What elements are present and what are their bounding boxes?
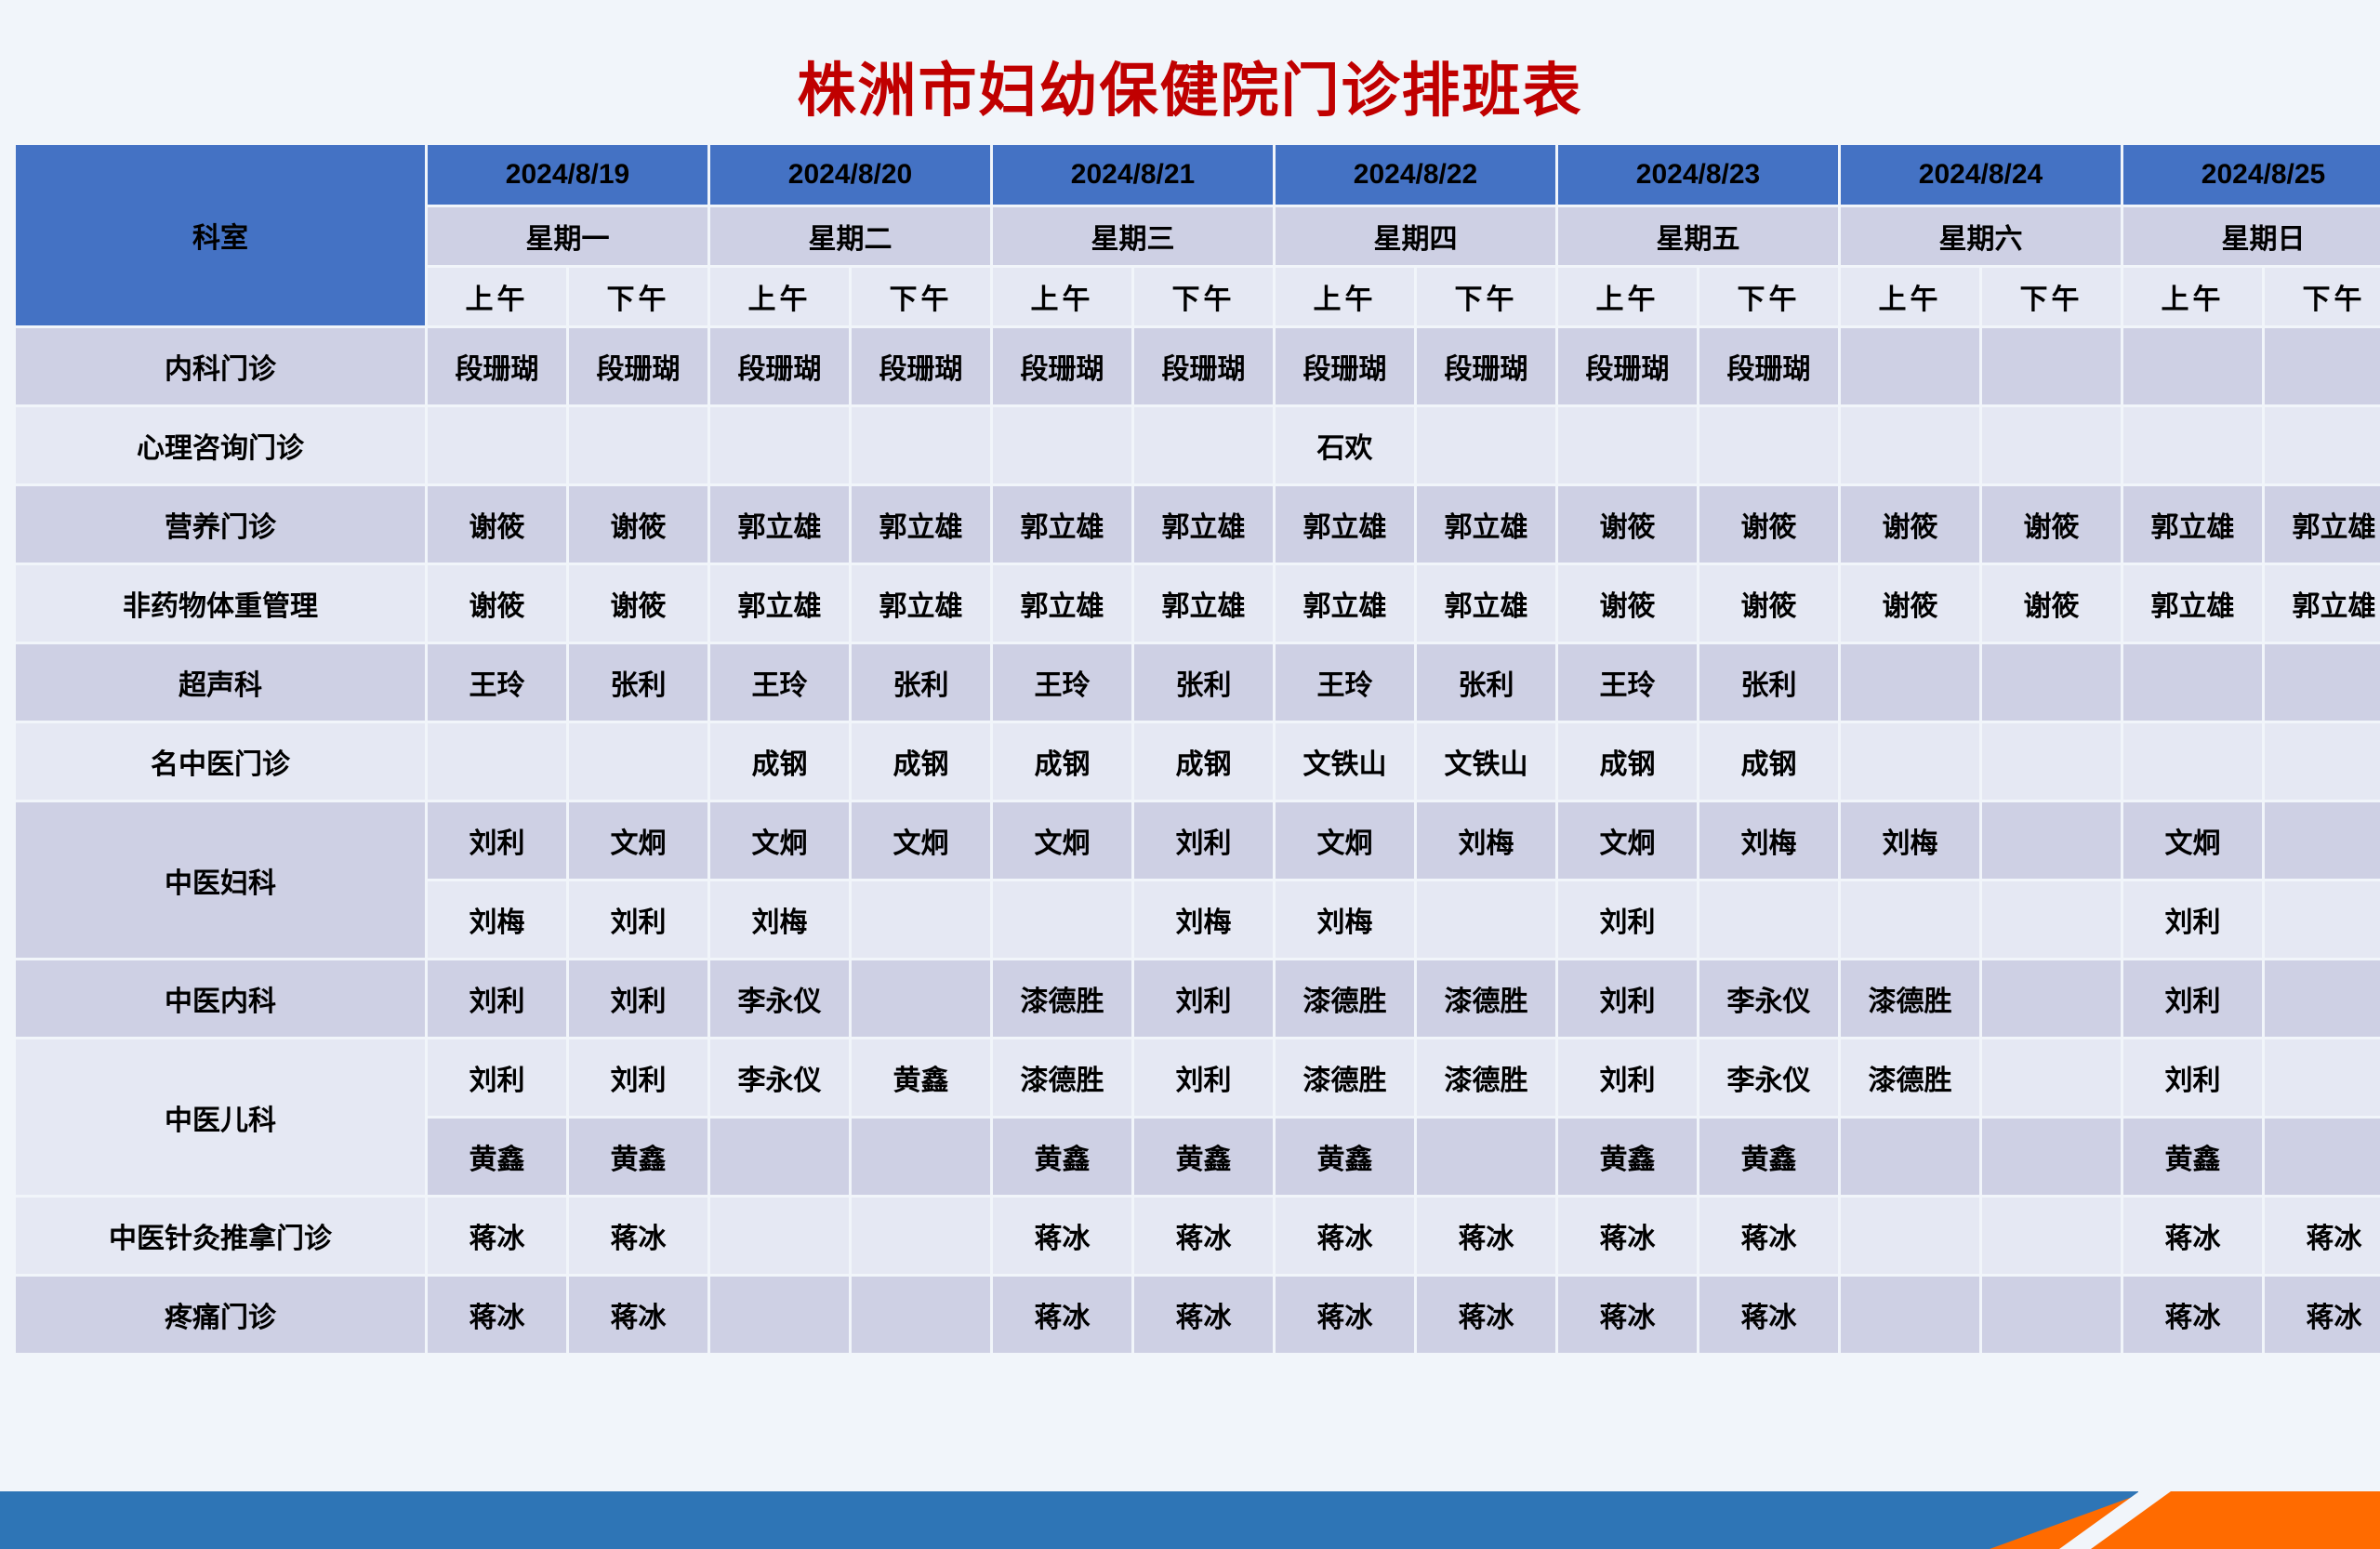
schedule-cell-empty [2265, 407, 2380, 483]
schedule-cell-doctor: 段珊瑚 [569, 328, 707, 404]
schedule-cell-empty [2265, 802, 2380, 879]
schedule-cell-empty [1982, 328, 2121, 404]
schedule-cell-doctor: 刘利 [1134, 802, 1273, 879]
schedule-cell-doctor: 刘利 [1558, 881, 1697, 958]
schedule-cell-doctor: 郭立雄 [2123, 486, 2262, 563]
schedule-cell-empty [2123, 723, 2262, 800]
header-session-am-0: 上午 [428, 268, 566, 325]
schedule-cell-doctor: 刘利 [2123, 1039, 2262, 1116]
header-date-1: 2024/8/20 [710, 145, 990, 205]
schedule-cell-doctor: 刘梅 [1841, 802, 1979, 879]
schedule-cell-doctor: 成钢 [1699, 723, 1838, 800]
schedule-cell-empty [1841, 723, 1979, 800]
schedule-cell-empty [2265, 960, 2380, 1037]
schedule-cell-doctor: 段珊瑚 [993, 328, 1131, 404]
schedule-cell-doctor: 文炯 [569, 802, 707, 879]
schedule-cell-doctor: 李永仪 [710, 1039, 849, 1116]
schedule-cell-empty [1982, 1277, 2121, 1353]
schedule-cell-doctor: 蒋冰 [1276, 1198, 1414, 1274]
header-session-am-5: 上午 [1841, 268, 1979, 325]
schedule-cell-doctor: 段珊瑚 [428, 328, 566, 404]
table-row: 中医妇科刘利文炯文炯文炯文炯刘利文炯刘梅文炯刘梅刘梅文炯 [16, 802, 2380, 879]
schedule-cell-empty [1134, 407, 1273, 483]
schedule-cell-doctor: 谢筱 [428, 486, 566, 563]
schedule-cell-doctor: 蒋冰 [1699, 1277, 1838, 1353]
schedule-cell-doctor: 李永仪 [1699, 1039, 1838, 1116]
schedule-cell-doctor: 段珊瑚 [1417, 328, 1555, 404]
header-date-3: 2024/8/22 [1276, 145, 1555, 205]
schedule-cell-empty [1982, 407, 2121, 483]
table-row: 中医儿科刘利刘利李永仪黄鑫漆德胜刘利漆德胜漆德胜刘利李永仪漆德胜刘利 [16, 1039, 2380, 1116]
table-row: 非药物体重管理谢筱谢筱郭立雄郭立雄郭立雄郭立雄郭立雄郭立雄谢筱谢筱谢筱谢筱郭立雄… [16, 565, 2380, 642]
dept-name-cell: 名中医门诊 [16, 723, 425, 800]
schedule-cell-doctor: 张利 [852, 644, 990, 721]
schedule-cell-doctor: 郭立雄 [2123, 565, 2262, 642]
schedule-cell-doctor: 蒋冰 [1558, 1277, 1697, 1353]
schedule-cell-empty [1699, 881, 1838, 958]
dept-name-cell: 中医内科 [16, 960, 425, 1037]
dept-name-cell: 内科门诊 [16, 328, 425, 404]
schedule-cell-doctor: 成钢 [852, 723, 990, 800]
header-session-am-4: 上午 [1558, 268, 1697, 325]
schedule-cell-doctor: 蒋冰 [569, 1277, 707, 1353]
header-weekday-6: 星期日 [2123, 207, 2380, 265]
schedule-cell-empty [993, 407, 1131, 483]
schedule-cell-empty [852, 1198, 990, 1274]
schedule-cell-doctor: 黄鑫 [428, 1119, 566, 1195]
schedule-cell-empty [1841, 1119, 1979, 1195]
schedule-cell-doctor: 蒋冰 [993, 1277, 1131, 1353]
schedule-cell-doctor: 黄鑫 [2123, 1119, 2262, 1195]
schedule-cell-doctor: 郭立雄 [1417, 565, 1555, 642]
schedule-cell-doctor: 段珊瑚 [852, 328, 990, 404]
schedule-cell-empty [1982, 1119, 2121, 1195]
schedule-cell-doctor: 蒋冰 [2123, 1277, 2262, 1353]
schedule-cell-doctor: 谢筱 [1699, 565, 1838, 642]
header-session-pm-2: 下午 [1134, 268, 1273, 325]
schedule-cell-doctor: 谢筱 [569, 486, 707, 563]
schedule-cell-doctor: 谢筱 [1841, 486, 1979, 563]
schedule-cell-doctor: 蒋冰 [428, 1198, 566, 1274]
schedule-cell-empty [710, 1119, 849, 1195]
schedule-cell-doctor: 黄鑫 [852, 1039, 990, 1116]
schedule-cell-doctor: 黄鑫 [569, 1119, 707, 1195]
schedule-cell-doctor: 蒋冰 [1134, 1198, 1273, 1274]
schedule-cell-doctor: 文炯 [993, 802, 1131, 879]
table-row: 内科门诊段珊瑚段珊瑚段珊瑚段珊瑚段珊瑚段珊瑚段珊瑚段珊瑚段珊瑚段珊瑚 [16, 328, 2380, 404]
schedule-cell-doctor: 段珊瑚 [1558, 328, 1697, 404]
schedule-cell-empty [2265, 1039, 2380, 1116]
schedule-cell-doctor: 谢筱 [1982, 565, 2121, 642]
header-weekday-1: 星期二 [710, 207, 990, 265]
schedule-cell-empty [428, 407, 566, 483]
schedule-cell-empty [1841, 1277, 1979, 1353]
schedule-cell-empty [2123, 644, 2262, 721]
header-date-4: 2024/8/23 [1558, 145, 1838, 205]
schedule-cell-doctor: 蒋冰 [1699, 1198, 1838, 1274]
schedule-cell-doctor: 刘利 [2123, 960, 2262, 1037]
schedule-cell-doctor: 郭立雄 [1276, 565, 1414, 642]
header-weekday-4: 星期五 [1558, 207, 1838, 265]
table-row: 心理咨询门诊石欢 [16, 407, 2380, 483]
schedule-cell-doctor: 蒋冰 [428, 1277, 566, 1353]
schedule-cell-doctor: 文炯 [710, 802, 849, 879]
schedule-cell-doctor: 刘利 [428, 1039, 566, 1116]
schedule-cell-doctor: 刘梅 [1134, 881, 1273, 958]
schedule-cell-doctor: 刘梅 [1276, 881, 1414, 958]
schedule-cell-empty [1841, 1198, 1979, 1274]
schedule-cell-empty [2265, 644, 2380, 721]
schedule-cell-doctor: 蒋冰 [1276, 1277, 1414, 1353]
schedule-cell-doctor: 张利 [1699, 644, 1838, 721]
schedule-cell-doctor: 蒋冰 [1417, 1198, 1555, 1274]
schedule-cell-doctor: 王玲 [710, 644, 849, 721]
schedule-cell-empty [1982, 1198, 2121, 1274]
schedule-cell-doctor: 成钢 [1558, 723, 1697, 800]
schedule-cell-doctor: 王玲 [1558, 644, 1697, 721]
table-row: 营养门诊谢筱谢筱郭立雄郭立雄郭立雄郭立雄郭立雄郭立雄谢筱谢筱谢筱谢筱郭立雄郭立雄 [16, 486, 2380, 563]
schedule-cell-empty [852, 1119, 990, 1195]
schedule-cell-doctor: 漆德胜 [1276, 1039, 1414, 1116]
schedule-cell-doctor: 漆德胜 [993, 960, 1131, 1037]
schedule-cell-doctor: 文炯 [1558, 802, 1697, 879]
schedule-cell-doctor: 刘梅 [428, 881, 566, 958]
schedule-cell-doctor: 郭立雄 [710, 565, 849, 642]
header-date-5: 2024/8/24 [1841, 145, 2121, 205]
schedule-cell-doctor: 黄鑫 [1558, 1119, 1697, 1195]
schedule-cell-doctor: 黄鑫 [1276, 1119, 1414, 1195]
schedule-cell-doctor: 刘利 [569, 1039, 707, 1116]
schedule-cell-doctor: 蒋冰 [2123, 1198, 2262, 1274]
dept-name-cell: 疼痛门诊 [16, 1277, 425, 1353]
schedule-cell-doctor: 谢筱 [569, 565, 707, 642]
schedule-cell-doctor: 谢筱 [428, 565, 566, 642]
schedule-cell-empty [2265, 723, 2380, 800]
schedule-cell-doctor: 郭立雄 [852, 486, 990, 563]
header-date-0: 2024/8/19 [428, 145, 707, 205]
schedule-cell-doctor: 刘利 [1134, 960, 1273, 1037]
dept-name-cell: 中医针灸推拿门诊 [16, 1198, 425, 1274]
header-dept-label: 科室 [16, 145, 425, 325]
schedule-cell-doctor: 郭立雄 [993, 565, 1131, 642]
schedule-cell-doctor: 漆德胜 [1276, 960, 1414, 1037]
header-session-pm-4: 下午 [1699, 268, 1838, 325]
schedule-cell-doctor: 蒋冰 [1558, 1198, 1697, 1274]
schedule-cell-empty [710, 1277, 849, 1353]
schedule-cell-empty [1841, 328, 1979, 404]
header-session-am-1: 上午 [710, 268, 849, 325]
schedule-cell-empty [1558, 407, 1697, 483]
header-session-pm-3: 下午 [1417, 268, 1555, 325]
schedule-cell-doctor: 郭立雄 [1417, 486, 1555, 563]
schedule-cell-doctor: 成钢 [1134, 723, 1273, 800]
schedule-cell-empty [1982, 644, 2121, 721]
header-session-pm-0: 下午 [569, 268, 707, 325]
schedule-cell-doctor: 文炯 [852, 802, 990, 879]
table-header: 科室 2024/8/19 2024/8/20 2024/8/21 2024/8/… [16, 145, 2380, 325]
schedule-cell-empty [1841, 407, 1979, 483]
schedule-cell-doctor: 蒋冰 [2265, 1198, 2380, 1274]
schedule-cell-doctor: 段珊瑚 [1134, 328, 1273, 404]
dept-name-cell: 中医儿科 [16, 1039, 425, 1195]
schedule-cell-empty [852, 960, 990, 1037]
schedule-cell-empty [569, 407, 707, 483]
schedule-cell-empty [2123, 407, 2262, 483]
schedule-cell-empty [569, 723, 707, 800]
schedule-cell-doctor: 郭立雄 [1134, 486, 1273, 563]
header-session-pm-6: 下午 [2265, 268, 2380, 325]
dept-name-cell: 非药物体重管理 [16, 565, 425, 642]
dept-name-cell: 营养门诊 [16, 486, 425, 563]
schedule-cell-empty [428, 723, 566, 800]
header-session-am-2: 上午 [993, 268, 1131, 325]
schedule-cell-empty [852, 407, 990, 483]
schedule-cell-doctor: 文铁山 [1276, 723, 1414, 800]
schedule-cell-doctor: 成钢 [710, 723, 849, 800]
header-weekday-5: 星期六 [1841, 207, 2121, 265]
schedule-cell-empty [2265, 1119, 2380, 1195]
schedule-cell-empty [1982, 1039, 2121, 1116]
schedule-cell-doctor: 刘梅 [1417, 802, 1555, 879]
schedule-cell-empty [1982, 802, 2121, 879]
schedule-cell-doctor: 漆德胜 [1417, 960, 1555, 1037]
schedule-cell-empty [2265, 328, 2380, 404]
schedule-cell-empty [1841, 881, 1979, 958]
table-row: 中医内科刘利刘利李永仪漆德胜刘利漆德胜漆德胜刘利李永仪漆德胜刘利 [16, 960, 2380, 1037]
schedule-cell-doctor: 郭立雄 [993, 486, 1131, 563]
schedule-cell-doctor: 刘利 [1134, 1039, 1273, 1116]
schedule-cell-empty [710, 407, 849, 483]
schedule-cell-empty [2265, 881, 2380, 958]
schedule-cell-doctor: 漆德胜 [993, 1039, 1131, 1116]
header-weekday-2: 星期三 [993, 207, 1273, 265]
schedule-cell-doctor: 段珊瑚 [1699, 328, 1838, 404]
schedule-cell-doctor: 王玲 [428, 644, 566, 721]
footer-decoration [0, 1491, 2380, 1549]
header-session-pm-5: 下午 [1982, 268, 2121, 325]
schedule-cell-doctor: 段珊瑚 [1276, 328, 1414, 404]
schedule-cell-empty [1982, 960, 2121, 1037]
schedule-cell-doctor: 成钢 [993, 723, 1131, 800]
schedule-cell-empty [1417, 407, 1555, 483]
schedule-cell-doctor: 王玲 [993, 644, 1131, 721]
schedule-cell-doctor: 谢筱 [1982, 486, 2121, 563]
schedule-cell-doctor: 刘梅 [1699, 802, 1838, 879]
schedule-cell-doctor: 刘利 [569, 881, 707, 958]
schedule-cell-empty [852, 1277, 990, 1353]
header-date-6: 2024/8/25 [2123, 145, 2380, 205]
schedule-cell-empty [1982, 881, 2121, 958]
schedule-cell-doctor: 郭立雄 [2265, 486, 2380, 563]
table-row: 中医针灸推拿门诊蒋冰蒋冰蒋冰蒋冰蒋冰蒋冰蒋冰蒋冰蒋冰蒋冰 [16, 1198, 2380, 1274]
schedule-cell-empty [1841, 644, 1979, 721]
schedule-cell-empty [1699, 407, 1838, 483]
header-session-pm-1: 下午 [852, 268, 990, 325]
schedule-cell-doctor: 蒋冰 [2265, 1277, 2380, 1353]
schedule-cell-doctor: 刘利 [1558, 960, 1697, 1037]
table-row: 名中医门诊成钢成钢成钢成钢文铁山文铁山成钢成钢 [16, 723, 2380, 800]
footer-blue-band [0, 1491, 2138, 1549]
schedule-cell-empty [993, 881, 1131, 958]
schedule-cell-doctor: 郭立雄 [1276, 486, 1414, 563]
schedule-sheet: 科室 2024/8/19 2024/8/20 2024/8/21 2024/8/… [13, 142, 2367, 1356]
schedule-table: 科室 2024/8/19 2024/8/20 2024/8/21 2024/8/… [13, 142, 2380, 1356]
schedule-cell-doctor: 刘梅 [710, 881, 849, 958]
schedule-cell-doctor: 王玲 [1276, 644, 1414, 721]
schedule-cell-doctor: 郭立雄 [852, 565, 990, 642]
dept-name-cell: 中医妇科 [16, 802, 425, 958]
schedule-cell-doctor: 石欢 [1276, 407, 1414, 483]
dept-name-cell: 心理咨询门诊 [16, 407, 425, 483]
schedule-cell-doctor: 张利 [1417, 644, 1555, 721]
schedule-cell-empty [1417, 1119, 1555, 1195]
schedule-cell-empty [2123, 328, 2262, 404]
table-body: 内科门诊段珊瑚段珊瑚段珊瑚段珊瑚段珊瑚段珊瑚段珊瑚段珊瑚段珊瑚段珊瑚心理咨询门诊… [16, 328, 2380, 1353]
dept-name-cell: 超声科 [16, 644, 425, 721]
table-row: 疼痛门诊蒋冰蒋冰蒋冰蒋冰蒋冰蒋冰蒋冰蒋冰蒋冰蒋冰 [16, 1277, 2380, 1353]
schedule-cell-doctor: 谢筱 [1558, 565, 1697, 642]
header-weekday-3: 星期四 [1276, 207, 1555, 265]
schedule-cell-doctor: 刘利 [569, 960, 707, 1037]
schedule-cell-doctor: 刘利 [428, 802, 566, 879]
header-session-am-3: 上午 [1276, 268, 1414, 325]
page-title: 株洲市妇幼保健院门诊排班表 [0, 0, 2380, 142]
schedule-cell-doctor: 郭立雄 [2265, 565, 2380, 642]
schedule-cell-doctor: 文炯 [1276, 802, 1414, 879]
schedule-cell-empty [710, 1198, 849, 1274]
header-session-am-6: 上午 [2123, 268, 2262, 325]
schedule-cell-doctor: 漆德胜 [1841, 1039, 1979, 1116]
schedule-cell-doctor: 李永仪 [1699, 960, 1838, 1037]
schedule-cell-doctor: 郭立雄 [1134, 565, 1273, 642]
schedule-cell-doctor: 郭立雄 [710, 486, 849, 563]
schedule-cell-doctor: 文铁山 [1417, 723, 1555, 800]
header-weekday-0: 星期一 [428, 207, 707, 265]
schedule-cell-doctor: 张利 [569, 644, 707, 721]
schedule-cell-doctor: 段珊瑚 [710, 328, 849, 404]
schedule-cell-doctor: 刘利 [2123, 881, 2262, 958]
schedule-cell-doctor: 黄鑫 [1699, 1119, 1838, 1195]
schedule-cell-doctor: 蒋冰 [569, 1198, 707, 1274]
schedule-cell-empty [1982, 723, 2121, 800]
schedule-cell-doctor: 刘利 [428, 960, 566, 1037]
schedule-cell-doctor: 谢筱 [1841, 565, 1979, 642]
schedule-cell-doctor: 张利 [1134, 644, 1273, 721]
schedule-cell-doctor: 谢筱 [1699, 486, 1838, 563]
schedule-cell-empty [1417, 881, 1555, 958]
table-row: 超声科王玲张利王玲张利王玲张利王玲张利王玲张利 [16, 644, 2380, 721]
schedule-cell-doctor: 蒋冰 [1417, 1277, 1555, 1353]
schedule-cell-doctor: 蒋冰 [993, 1198, 1131, 1274]
schedule-cell-doctor: 李永仪 [710, 960, 849, 1037]
header-date-2: 2024/8/21 [993, 145, 1273, 205]
schedule-cell-doctor: 文炯 [2123, 802, 2262, 879]
schedule-cell-doctor: 黄鑫 [1134, 1119, 1273, 1195]
schedule-cell-doctor: 黄鑫 [993, 1119, 1131, 1195]
schedule-cell-doctor: 谢筱 [1558, 486, 1697, 563]
schedule-cell-empty [852, 881, 990, 958]
schedule-cell-doctor: 蒋冰 [1134, 1277, 1273, 1353]
schedule-cell-doctor: 漆德胜 [1841, 960, 1979, 1037]
header-row-dates: 科室 2024/8/19 2024/8/20 2024/8/21 2024/8/… [16, 145, 2380, 205]
schedule-cell-doctor: 刘利 [1558, 1039, 1697, 1116]
schedule-cell-doctor: 漆德胜 [1417, 1039, 1555, 1116]
